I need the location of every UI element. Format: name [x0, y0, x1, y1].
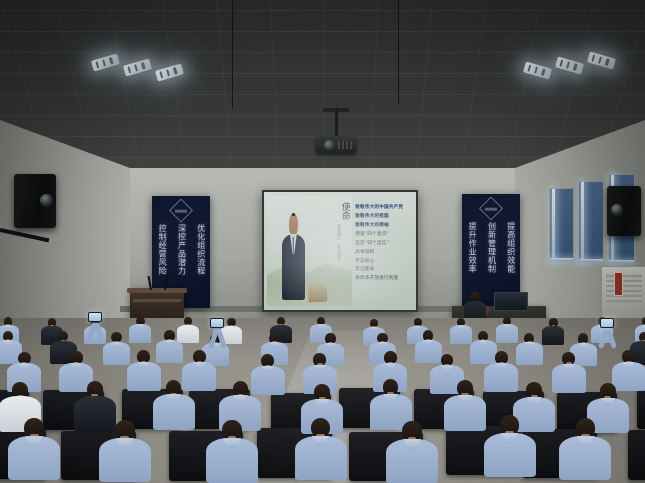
light-louver [591, 54, 596, 62]
ceiling-tile-line [0, 52, 645, 53]
blind-bottom-edge [609, 260, 634, 263]
shirt-collar [262, 366, 274, 372]
ceiling-wire-left [232, 0, 233, 108]
projector-lens-icon [324, 140, 334, 150]
blind-bottom-edge [579, 259, 603, 262]
light-louver [559, 59, 564, 67]
shirt-collar [116, 438, 134, 448]
shirt-collar [424, 340, 433, 345]
podium-front-panel [133, 299, 181, 302]
light-louver [95, 61, 100, 69]
shirt-collar [403, 439, 421, 449]
speaker-cone [40, 194, 53, 207]
audience-torso [8, 436, 60, 480]
screen-glare [264, 192, 416, 310]
audience-member [484, 415, 536, 479]
blind-bottom-edge [550, 258, 573, 261]
audience-torso [295, 436, 347, 480]
audience-torso [516, 342, 543, 365]
shirt-collar [312, 436, 330, 446]
shirt-collar [315, 399, 329, 407]
shirt-collar [4, 325, 11, 329]
projection-screen: 使命 不忘初心 牢记使命 致敬伟大的中国共产党致敬伟大的祖国致敬伟大的领袖增强“… [264, 192, 416, 310]
shirt-collar [370, 327, 377, 331]
shirt-collar [318, 324, 325, 328]
shirt-collar [623, 362, 635, 368]
audience-member [516, 333, 543, 366]
light-louver [541, 68, 546, 76]
chair[interactable] [628, 430, 645, 480]
blind-light-gap [581, 182, 584, 262]
air-conditioner [601, 266, 645, 322]
shirt-collar [326, 343, 335, 348]
light-louver [527, 64, 532, 72]
shirt-collar [577, 436, 595, 446]
shirt-collar [165, 340, 174, 345]
phone-screen [89, 313, 101, 321]
ceiling-tile-line [162, 0, 189, 183]
shirt-collar [503, 324, 510, 328]
audience-torso [153, 394, 195, 430]
audience-member [99, 420, 151, 483]
ceiling-wire-right [398, 0, 399, 104]
shirt-collar [3, 340, 12, 345]
audience-torso [552, 364, 586, 393]
shirt-collar [414, 326, 421, 330]
phone-screen [211, 319, 223, 327]
shirt-collar [166, 394, 180, 402]
smartphone[interactable] [600, 318, 614, 328]
shirt-collar [138, 362, 150, 368]
light-louver [127, 66, 132, 74]
shirt-collar [194, 362, 206, 368]
audience-member [386, 421, 438, 483]
projector-body [316, 136, 356, 153]
audience-member [496, 317, 518, 344]
light-louver [605, 58, 610, 66]
projection-screen-frame: 使命 不忘初心 牢记使命 致敬伟大的中国共产党致敬伟大的祖国致敬伟大的领袖增强“… [262, 190, 418, 312]
smartphone[interactable] [88, 312, 102, 322]
ac-vent-grille [606, 273, 643, 301]
shirt-collar [458, 395, 472, 403]
audience-torso [542, 326, 564, 345]
ceiling-tile-line [505, 0, 541, 182]
shirt-collar [70, 363, 82, 369]
ceiling-tile-line [0, 94, 645, 95]
light-louver [166, 69, 171, 77]
shirt-collar [525, 342, 534, 347]
shirt-collar [579, 343, 588, 348]
light-louver [598, 56, 603, 64]
audience-torso [484, 433, 536, 477]
ceiling-projector [314, 108, 358, 160]
shirt-collar [441, 365, 453, 371]
shirt-collar [563, 364, 575, 370]
audience-member [542, 318, 564, 345]
shirt-collar [458, 325, 465, 329]
shirt-collar [233, 395, 247, 403]
speaker-cone [611, 204, 623, 216]
banner-logo-diamond-icon [169, 198, 193, 222]
audience-torso [386, 439, 438, 483]
chair[interactable] [637, 389, 645, 429]
ceiling-tile-line [460, 0, 487, 183]
shirt-collar [496, 363, 508, 369]
light-louver [566, 61, 571, 69]
audience-member [295, 418, 347, 482]
audience-member [129, 317, 151, 344]
shirt-collar [18, 363, 30, 369]
audience-torso [129, 324, 151, 343]
projector-pole [335, 108, 338, 138]
shirt-collar [383, 394, 397, 402]
light-louver [159, 71, 164, 79]
blind-light-gap [552, 189, 555, 261]
audience-member [552, 352, 586, 394]
shirt-collar [527, 397, 541, 405]
shirt-collar [601, 398, 615, 406]
shirt-collar [112, 342, 121, 347]
light-louver [109, 57, 114, 65]
av-control-monitor [494, 292, 528, 311]
light-louver [573, 63, 578, 71]
shirt-collar [314, 365, 326, 371]
audience-torso [559, 436, 611, 480]
shirt-collar [501, 433, 519, 443]
wall-speaker-right [607, 186, 641, 236]
wall-speaker-left [14, 174, 56, 228]
audience-member [559, 418, 611, 482]
banner-logo-diamond-icon [479, 196, 503, 220]
audience-member [8, 418, 60, 482]
shirt-collar [385, 363, 397, 369]
shirt-collar [25, 436, 43, 446]
window-blind-1 [549, 188, 574, 262]
light-louver [173, 67, 178, 75]
podium-top-surface [127, 288, 187, 293]
ceiling-tile-line [0, 10, 645, 11]
audience-member [206, 420, 258, 483]
audience-torso [496, 324, 518, 343]
phone-screen [601, 319, 613, 327]
shirt-collar [223, 438, 241, 448]
shirt-collar [378, 342, 387, 347]
smartphone[interactable] [210, 318, 224, 328]
light-louver [534, 66, 539, 74]
conference-hall-photo: 优化组织流程深挖产品潜力控制经营风险 提高组织效能创新管理机制提升作业效率 [0, 0, 645, 483]
right-slogan-banner: 提高组织效能创新管理机制提升作业效率 [462, 194, 520, 308]
light-louver [141, 62, 146, 70]
audience-member [153, 380, 195, 431]
shirt-collar [137, 324, 144, 328]
light-louver [102, 59, 107, 67]
shirt-collar [270, 342, 279, 347]
audience-torso [444, 395, 486, 431]
shirt-collar [479, 340, 488, 345]
audience-torso [99, 438, 151, 482]
ceiling-tile-line [108, 0, 143, 182]
window-blind-2 [578, 181, 604, 263]
light-louver [134, 64, 139, 72]
audience-torso [206, 438, 258, 482]
projector-vent [338, 141, 352, 149]
ceiling-tile-line [0, 31, 645, 32]
audience-member [444, 380, 486, 431]
left-banner-column-1: 优化组织流程 [196, 224, 205, 304]
fire-extinguisher-sign [614, 272, 623, 296]
